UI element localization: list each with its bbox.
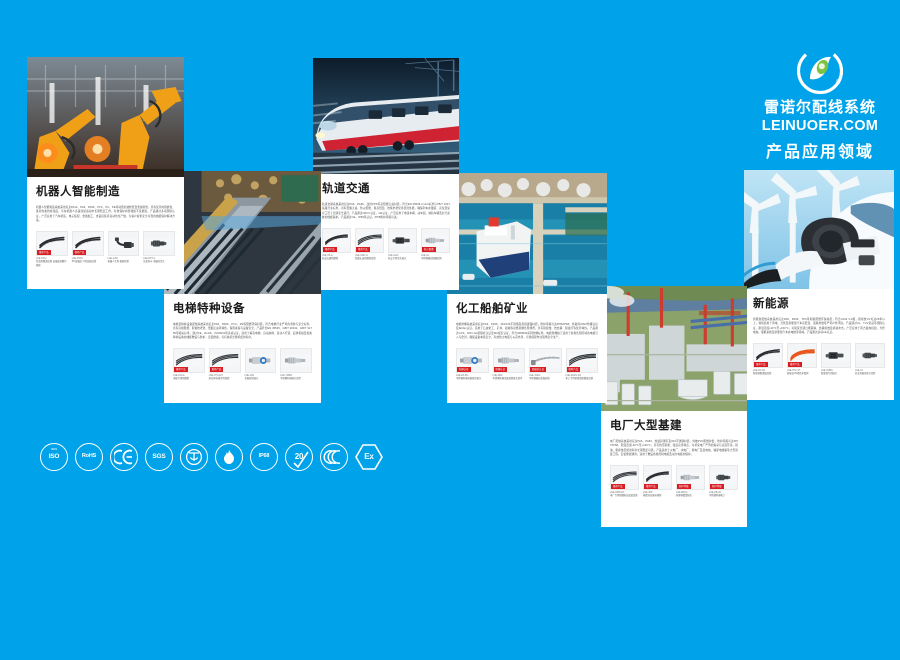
product-image: 防爆认证 bbox=[456, 348, 489, 373]
product-thumbnail-strip: 推荐产品LNE-PA6-E电梯专用阻燃管 推荐产品LNE-TPU-EH防拉伸电梯… bbox=[173, 346, 312, 382]
product-thumbnail-strip: 推荐产品LNE-TB-G轨道交通阻燃管 推荐产品LNE-GRN-G低烟无卤阻燃波… bbox=[322, 226, 450, 262]
product-image: 推荐产品 bbox=[787, 343, 817, 368]
product-badge: 推荐产品 bbox=[567, 367, 581, 372]
product-name: 化工专用耐腐蚀阻燃波纹管 bbox=[566, 378, 599, 381]
product-caption: LNE-TPU-XT耐候抗UV橙色护套管 bbox=[787, 368, 817, 377]
product-badge: 推荐产品 bbox=[644, 484, 658, 489]
product-thumbnail[interactable]: 防爆认证LNE-SBG不锈钢防爆金属软管接头组件 bbox=[493, 348, 526, 382]
product-thumbnail[interactable]: 防护等级LNE-BFPG防爆铜镀镍接头 bbox=[676, 465, 705, 499]
product-image: 防护等级 bbox=[676, 465, 705, 490]
application-card-robot-manufacturing[interactable]: 机器人智能制造机器人智能制造系统采用尼龙PA12、PA6、PA66、PVC、PU… bbox=[27, 57, 184, 289]
product-name: 防爆铜镀镍接头 bbox=[676, 495, 705, 498]
application-card-elevator-equipment[interactable]: 电梯特种设备电梯及特种设备配线系统采用尼龙PA6、PA66、PVC、PE等阻燃环… bbox=[164, 171, 321, 403]
card-title: 化工船舶矿业 bbox=[456, 303, 598, 317]
product-name: 机器人专用 拖链软管 bbox=[108, 261, 140, 264]
product-image: 推荐产品 bbox=[643, 465, 672, 490]
product-name: 不锈钢防爆电缆密封接头 bbox=[456, 378, 489, 381]
product-thumbnail-strip: 防爆认证LNE-EX-BG不锈钢防爆电缆密封接头 防爆认证LNE-SBG不锈钢防… bbox=[456, 346, 598, 382]
product-caption: LNE-GJW机器人专用 拖链软管 bbox=[108, 256, 140, 265]
product-image: 推荐产品 bbox=[753, 343, 783, 368]
product-name: 防拉伸电梯专用软管 bbox=[209, 378, 241, 381]
product-caption: LNE-NPT-A尼龙防水 电缆固定头 bbox=[143, 256, 175, 265]
product-badge: 船级社认证 bbox=[530, 367, 546, 372]
product-badge: 推荐产品 bbox=[754, 362, 768, 367]
product-name: PU高强度 可弯曲波纹管 bbox=[72, 261, 104, 264]
product-image: 推荐产品 bbox=[173, 348, 205, 373]
ip68-rating-badge: IP68 bbox=[250, 443, 278, 471]
product-thumbnail[interactable]: 推荐产品LNE-TPU-EH防拉伸电梯专用软管 bbox=[209, 348, 241, 382]
product-caption: LNE-XNBG新能源专用接头 bbox=[821, 368, 851, 377]
product-image bbox=[388, 228, 417, 253]
product-thumbnail[interactable]: LNE-XNBG新能源专用接头 bbox=[821, 343, 851, 377]
crcc-certification-badge bbox=[180, 443, 208, 471]
product-name: 不锈钢防爆格兰 bbox=[709, 495, 738, 498]
product-image: 推荐产品 bbox=[72, 231, 104, 256]
certification-badges: ISO9001RoHS SGS IP6820 Ex bbox=[40, 443, 383, 471]
product-name: 不锈钢防爆接头组件 bbox=[280, 378, 312, 381]
cert-label: SGS bbox=[152, 454, 165, 461]
product-badge: 推荐产品 bbox=[323, 247, 337, 252]
product-caption: LNE-PA12尼龙阻燃波纹管 高强度耐磨护线管 bbox=[36, 256, 68, 268]
product-caption: LNE-PU66PU高强度 可弯曲波纹管 bbox=[72, 256, 104, 265]
product-image bbox=[245, 348, 277, 373]
brand-name-cn: 雷诺尔配线系统 bbox=[745, 100, 895, 117]
product-image bbox=[821, 343, 851, 368]
product-thumbnail[interactable]: LNE-NPT-A尼龙防水 电缆固定头 bbox=[143, 231, 175, 268]
product-name: 尼龙电缆固定头组件 bbox=[855, 373, 885, 376]
product-name: 热镀锌金属穿线管 bbox=[643, 495, 672, 498]
product-name: 不锈钢防爆金属软管接头组件 bbox=[493, 378, 526, 381]
product-name: 金属软管接头 bbox=[245, 378, 277, 381]
flame-retardant-badge bbox=[215, 443, 243, 471]
ccc-certification-badge bbox=[320, 443, 348, 471]
wind-turbine-ev-charging-photo bbox=[744, 170, 894, 289]
product-thumbnail[interactable]: 推荐产品LNE-PU66PU高强度 可弯曲波纹管 bbox=[72, 231, 104, 268]
product-image bbox=[855, 343, 885, 368]
product-badge: 防护等级 bbox=[710, 484, 724, 489]
leinuoer-leaf-logo-icon: ® bbox=[797, 48, 843, 94]
port-tanker-aerial-photo bbox=[447, 173, 607, 294]
product-badge: 推荐产品 bbox=[174, 367, 188, 372]
cert-label: ISO bbox=[49, 454, 60, 461]
product-image: 船级社认证 bbox=[529, 348, 562, 373]
card-body: 机器人智能制造机器人智能制造系统采用尼龙PA12、PA6、PA66、PVC、PU… bbox=[27, 177, 184, 274]
product-badge: 推荐产品 bbox=[611, 484, 625, 489]
product-thumbnail[interactable]: 推荐产品LNE-ZDRG-PA化工专用耐腐蚀阻燃波纹管 bbox=[566, 348, 599, 382]
product-name: 轨交专用弯头接头 bbox=[388, 258, 417, 261]
product-badge: 推荐产品 bbox=[37, 250, 51, 255]
application-card-new-energy[interactable]: 新能源新能源配线系统采用尼龙PA6、PA66、TPU等耐候阻燃环保材质，符合UL… bbox=[744, 170, 894, 400]
application-card-rail-transit[interactable]: 轨道交通轨道交通系统采用尼龙PA6、PA66、改性PPS等高阻燃无卤材质，符合E… bbox=[313, 58, 459, 290]
product-caption: LNE-PA-XN新能源阻燃波纹管 bbox=[753, 368, 783, 377]
product-thumbnail[interactable]: LNE-JSG金属软管接头 bbox=[245, 348, 277, 382]
product-name: 电梯专用阻燃管 bbox=[173, 378, 205, 381]
product-thumbnail[interactable]: LNE-GJW机器人专用 拖链软管 bbox=[108, 231, 140, 268]
card-title: 电厂大型基建 bbox=[610, 420, 738, 434]
product-caption: LNE-JSG金属软管接头 bbox=[245, 373, 277, 382]
product-badge: 推荐产品 bbox=[788, 362, 802, 367]
product-thumbnail[interactable]: 推荐产品LNE-DRW-PA电厂专用阻燃耐高温波纹管 bbox=[610, 465, 639, 499]
product-name: 低烟无卤阻燃波纹管 bbox=[355, 258, 384, 261]
product-name: 耐候抗UV橙色护套管 bbox=[787, 373, 817, 376]
product-thumbnail[interactable]: 防护等级LNE-PBJ-B不锈钢防爆格兰 bbox=[709, 465, 738, 499]
product-caption: LNE-EX-BG不锈钢防爆电缆密封接头 bbox=[456, 373, 489, 382]
product-badge: 推荐产品 bbox=[73, 250, 87, 255]
product-thumbnail[interactable]: LNE-YMBG不锈钢防爆接头组件 bbox=[280, 348, 312, 382]
product-thumbnail[interactable]: 推荐产品LNE-TB-G轨道交通阻燃管 bbox=[322, 228, 351, 262]
card-description: 电缆防爆系统采用尼龙PA6、PA66、304/316不锈钢及黄铜镀镍材质，防护等… bbox=[456, 323, 598, 341]
product-image: 防护等级 bbox=[709, 465, 738, 490]
product-name: 不锈钢编织金属软管 bbox=[529, 378, 562, 381]
application-card-chemical-marine-mining[interactable]: 化工船舶矿业电缆防爆系统采用尼龙PA6、PA66、304/316不锈钢及黄铜镀镍… bbox=[447, 173, 607, 403]
product-caption: LNE-JDP热镀锌金属穿线管 bbox=[643, 490, 672, 499]
card-title: 电梯特种设备 bbox=[173, 303, 312, 317]
industrial-welding-robots-photo bbox=[27, 57, 184, 177]
product-image: 推荐产品 bbox=[322, 228, 351, 253]
product-badge: 推荐产品 bbox=[356, 247, 370, 252]
rohs-certification-badge: RoHS bbox=[75, 443, 103, 471]
card-title: 机器人智能制造 bbox=[36, 186, 175, 200]
product-caption: LNE-TPU-EH防拉伸电梯专用软管 bbox=[209, 373, 241, 382]
product-name: 轨道交通阻燃管 bbox=[322, 258, 351, 261]
cert-label: IP68 bbox=[259, 454, 270, 460]
card-description: 新能源配线系统采用尼龙PA6、PA66、TPU等耐候阻燃环保材质，符合UL94 … bbox=[753, 318, 885, 336]
product-thumbnail-strip: 推荐产品LNE-DRW-PA电厂专用阻燃耐高温波纹管 推荐产品LNE-JDP热镀… bbox=[610, 463, 738, 499]
card-title: 新能源 bbox=[753, 298, 885, 312]
product-caption: LNE-PBJ-B不锈钢防爆格兰 bbox=[709, 490, 738, 499]
poster-canvas: ® 雷诺尔配线系统 LEINUOER.COM 产品应用领域 机器人智能 bbox=[0, 0, 900, 660]
product-thumbnail[interactable]: 防爆认证LNE-EX-BG不锈钢防爆电缆密封接头 bbox=[456, 348, 489, 382]
card-description: 电厂配线系统采用尼龙PA6、PA66、热镀锌钢带及304不锈钢材质，外被PVC阻… bbox=[610, 440, 738, 458]
product-image: 防火阻燃 bbox=[421, 228, 450, 253]
product-thumbnail-strip: 推荐产品LNE-PA12尼龙阻燃波纹管 高强度耐磨护线管 推荐产品LNE-PU6… bbox=[36, 229, 175, 268]
cert-superscript: 9001 bbox=[41, 448, 67, 451]
card-description: 机器人智能制造系统采用尼龙PA12、PA6、PA66、PVC、PU、PE等材质的… bbox=[36, 206, 175, 224]
product-image: 推荐产品 bbox=[355, 228, 384, 253]
product-thumbnail[interactable]: 推荐产品LNE-JDP热镀锌金属穿线管 bbox=[643, 465, 672, 499]
mall-escalators-photo bbox=[164, 171, 321, 294]
card-description: 轨道交通系统采用尼龙PA6、PA66、改性PPS等高阻燃无卤材质，符合EN 45… bbox=[322, 203, 450, 221]
product-badge: 防火阻燃 bbox=[422, 247, 436, 252]
product-thumbnail[interactable]: 船级社认证LNE-JSRG不锈钢编织金属软管 bbox=[529, 348, 562, 382]
card-body: 电梯特种设备电梯及特种设备配线系统采用尼龙PA6、PA66、PVC、PE等阻燃环… bbox=[164, 294, 321, 388]
product-image: 推荐产品 bbox=[610, 465, 639, 490]
product-thumbnail[interactable]: 推荐产品LNE-PA-XN新能源阻燃波纹管 bbox=[753, 343, 783, 377]
product-thumbnail[interactable]: 防火阻燃LNE-GJ不锈钢编织屏蔽软管 bbox=[421, 228, 450, 262]
card-description: 电梯及特种设备配线系统采用尼龙PA6、PA66、PVC、PE等阻燃环保材质，符合… bbox=[173, 323, 312, 341]
product-caption: LNE-SBG不锈钢防爆金属软管接头组件 bbox=[493, 373, 526, 382]
product-image: 防爆认证 bbox=[493, 348, 526, 373]
product-caption: LNE-ZDRG-PA化工专用耐腐蚀阻燃波纹管 bbox=[566, 373, 599, 382]
product-name: 不锈钢编织屏蔽软管 bbox=[421, 258, 450, 261]
product-name: 新能源阻燃波纹管 bbox=[753, 373, 783, 376]
product-image bbox=[143, 231, 175, 256]
product-caption: LNE-DRW-PA电厂专用阻燃耐高温波纹管 bbox=[610, 490, 639, 499]
product-caption: LNE-XJ尼龙电缆固定头组件 bbox=[855, 368, 885, 377]
product-caption: LNE-GJW轨交专用弯头接头 bbox=[388, 253, 417, 262]
product-thumbnail[interactable]: 推荐产品LNE-GRN-G低烟无卤阻燃波纹管 bbox=[355, 228, 384, 262]
product-caption: LNE-TB-G轨道交通阻燃管 bbox=[322, 253, 351, 262]
twenty-year-warranty-badge: 20 bbox=[285, 443, 313, 471]
product-name: 电厂专用阻燃耐高温波纹管 bbox=[610, 495, 639, 498]
product-name: 尼龙阻燃波纹管 高强度耐磨护线管 bbox=[36, 261, 68, 268]
power-plant-aerial-photo bbox=[601, 286, 747, 411]
product-badge: 防爆认证 bbox=[494, 367, 508, 372]
product-name: 尼龙防水 电缆固定头 bbox=[143, 261, 175, 264]
card-title: 轨道交通 bbox=[322, 183, 450, 197]
product-badge: 防爆认证 bbox=[457, 367, 471, 372]
product-image bbox=[108, 231, 140, 256]
brand-logo-block: ® 雷诺尔配线系统 LEINUOER.COM bbox=[745, 48, 895, 135]
card-body: 新能源新能源配线系统采用尼龙PA6、PA66、TPU等耐候阻燃环保材质，符合UL… bbox=[744, 289, 894, 383]
high-speed-train-photo bbox=[313, 58, 459, 174]
cert-label: RoHS bbox=[82, 454, 96, 460]
product-thumbnail[interactable]: LNE-GJW轨交专用弯头接头 bbox=[388, 228, 417, 262]
card-body: 化工船舶矿业电缆防爆系统采用尼龙PA6、PA66、304/316不锈钢及黄铜镀镍… bbox=[447, 294, 607, 388]
product-caption: LNE-JSRG不锈钢编织金属软管 bbox=[529, 373, 562, 382]
product-image: 推荐产品 bbox=[209, 348, 241, 373]
product-caption: LNE-GRN-G低烟无卤阻燃波纹管 bbox=[355, 253, 384, 262]
product-caption: LNE-PA6-E电梯专用阻燃管 bbox=[173, 373, 205, 382]
sgs-certification-badge: SGS bbox=[145, 443, 173, 471]
product-image: 推荐产品 bbox=[36, 231, 68, 256]
product-thumbnail[interactable]: 推荐产品LNE-PA12尼龙阻燃波纹管 高强度耐磨护线管 bbox=[36, 231, 68, 268]
product-caption: LNE-BFPG防爆铜镀镍接头 bbox=[676, 490, 705, 499]
atex-ex-certification-badge: Ex bbox=[355, 443, 383, 471]
card-body: 轨道交通轨道交通系统采用尼龙PA6、PA66、改性PPS等高阻燃无卤材质，符合E… bbox=[313, 174, 459, 268]
card-body: 电厂大型基建电厂配线系统采用尼龙PA6、PA66、热镀锌钢带及304不锈钢材质，… bbox=[601, 411, 747, 505]
product-badge: 推荐产品 bbox=[210, 367, 224, 372]
product-caption: LNE-GJ不锈钢编织屏蔽软管 bbox=[421, 253, 450, 262]
brand-name-en: LEINUOER.COM bbox=[745, 118, 895, 135]
product-thumbnail[interactable]: LNE-XJ尼龙电缆固定头组件 bbox=[855, 343, 885, 377]
product-badge: 防护等级 bbox=[677, 484, 691, 489]
ce-certification-badge bbox=[110, 443, 138, 471]
svg-text:®: ® bbox=[836, 79, 841, 86]
product-thumbnail[interactable]: 推荐产品LNE-PA6-E电梯专用阻燃管 bbox=[173, 348, 205, 382]
application-card-power-plant-infrastructure[interactable]: 电厂大型基建电厂配线系统采用尼龙PA6、PA66、热镀锌钢带及304不锈钢材质，… bbox=[601, 286, 747, 527]
product-name: 新能源专用接头 bbox=[821, 373, 851, 376]
product-image bbox=[280, 348, 312, 373]
iso-certification-badge: ISO9001 bbox=[40, 443, 68, 471]
page-title: 产品应用领域 bbox=[745, 138, 895, 162]
product-thumbnail[interactable]: 推荐产品LNE-TPU-XT耐候抗UV橙色护套管 bbox=[787, 343, 817, 377]
product-thumbnail-strip: 推荐产品LNE-PA-XN新能源阻燃波纹管 推荐产品LNE-TPU-XT耐候抗U… bbox=[753, 341, 885, 377]
product-caption: LNE-YMBG不锈钢防爆接头组件 bbox=[280, 373, 312, 382]
product-image: 推荐产品 bbox=[566, 348, 599, 373]
